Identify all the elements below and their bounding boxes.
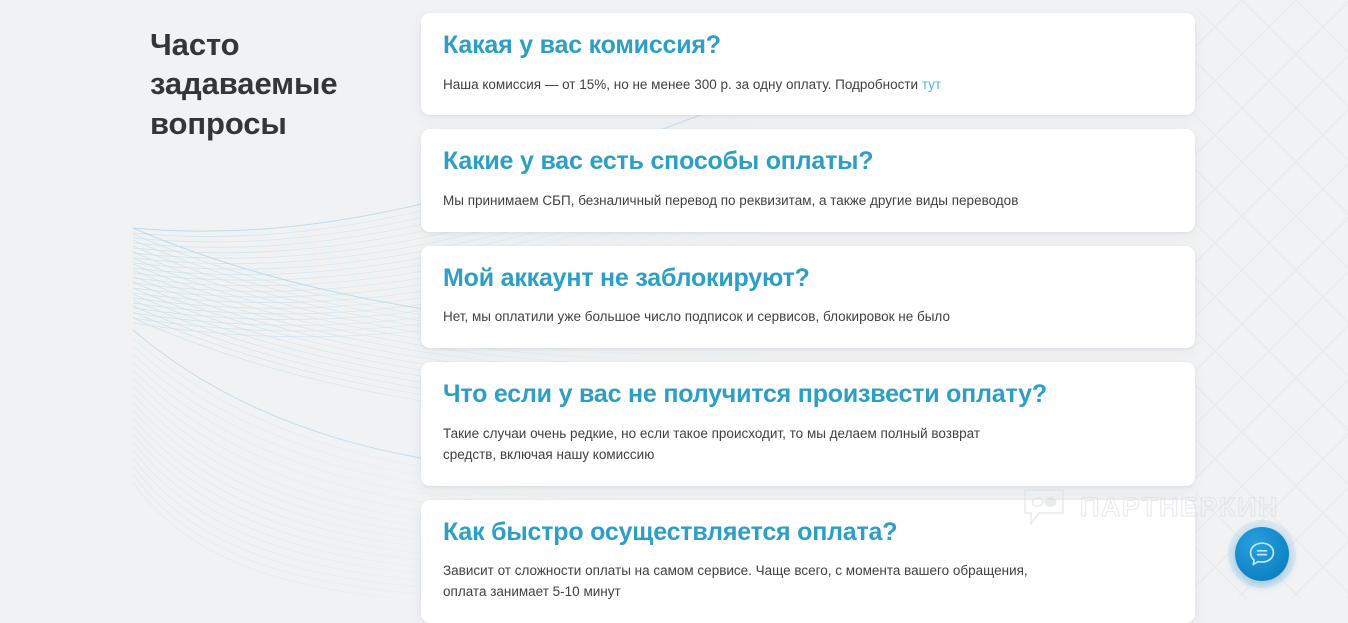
faq-details-link[interactable]: тут [922, 77, 941, 92]
faq-item[interactable]: Что если у вас не получится произвести о… [421, 362, 1195, 485]
chat-widget-button[interactable] [1235, 527, 1289, 581]
faq-card-list: Какая у вас комиссия? Наша комиссия — от… [421, 13, 1195, 623]
faq-item[interactable]: Как быстро осуществляется оплата? Зависи… [421, 500, 1195, 623]
page-title: Часто задаваемые вопросы [150, 25, 400, 144]
faq-question: Какая у вас комиссия? [443, 31, 1173, 61]
faq-answer: Такие случаи очень редкие, но если такое… [443, 424, 1143, 466]
faq-question: Какие у вас есть способы оплаты? [443, 147, 1173, 177]
faq-answer: Наша комиссия — от 15%, но не менее 300 … [443, 75, 1143, 96]
faq-question: Мой аккаунт не заблокируют? [443, 264, 1173, 294]
faq-item[interactable]: Мой аккаунт не заблокируют? Нет, мы опла… [421, 246, 1195, 348]
faq-item[interactable]: Какая у вас комиссия? Наша комиссия — от… [421, 13, 1195, 115]
chat-bubble-icon [1247, 539, 1277, 569]
faq-answer-text: Наша комиссия — от 15%, но не менее 300 … [443, 77, 922, 92]
faq-answer: Нет, мы оплатили уже большое число подпи… [443, 307, 1143, 328]
faq-answer: Зависит от сложности оплаты на самом сер… [443, 561, 1143, 603]
faq-item[interactable]: Какие у вас есть способы оплаты? Мы прин… [421, 129, 1195, 231]
faq-question: Как быстро осуществляется оплата? [443, 518, 1173, 548]
faq-question: Что если у вас не получится произвести о… [443, 380, 1173, 410]
faq-section: Часто задаваемые вопросы Какая у вас ком… [0, 0, 1348, 598]
faq-answer: Мы принимаем СБП, безналичный перевод по… [443, 191, 1143, 212]
